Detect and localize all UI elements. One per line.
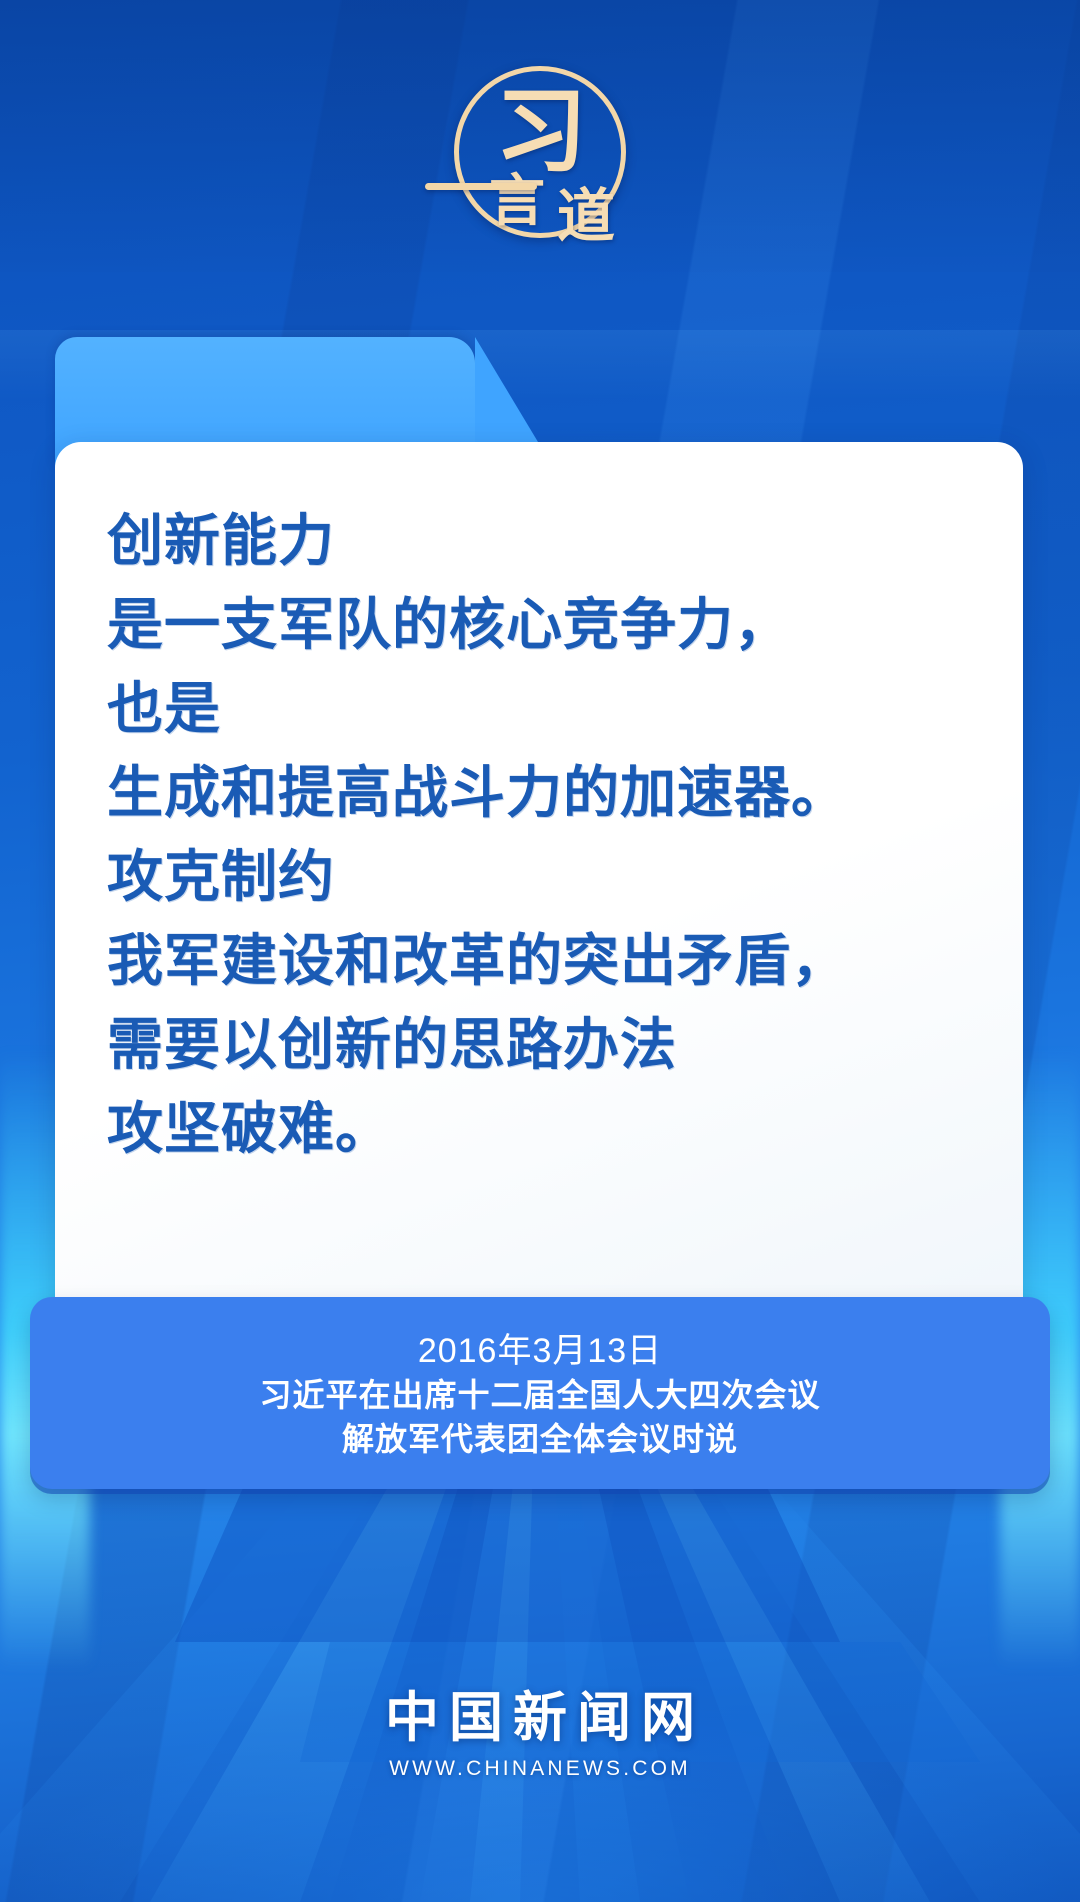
- attribution-line-2: 解放军代表团全体会议时说: [342, 1418, 738, 1460]
- xi-yan-dao-logo: 习 言 道: [454, 66, 626, 238]
- logo-container: 习 言 道: [0, 52, 1080, 252]
- quote-card: 创新能力 是一支军队的核心竞争力， 也是 生成和提高战斗力的加速器。 攻克制约 …: [55, 442, 1023, 1342]
- quote-line: 也是: [107, 668, 1023, 752]
- attribution-line-1: 习近平在出席十二届全国人大四次会议: [259, 1374, 820, 1416]
- quote-line: 攻坚破难。: [107, 1088, 1023, 1172]
- footer-brand: 中国新闻网 WWW.CHINANEWS.COM: [0, 1688, 1080, 1781]
- logo-char-dao-icon: 道: [557, 187, 615, 245]
- logo-char-xi-icon: 习: [495, 85, 587, 177]
- quote-line: 需要以创新的思路办法: [107, 1004, 1023, 1088]
- logo-horizontal-bar-icon: [425, 183, 537, 190]
- logo-char-yan-icon: 言: [489, 173, 545, 229]
- quote-line: 生成和提高战斗力的加速器。: [107, 752, 1023, 836]
- quote-line: 我军建设和改革的突出矛盾，: [107, 920, 1023, 1004]
- quote-line: 是一支军队的核心竞争力，: [107, 584, 1023, 668]
- attribution-date: 2016年3月13日: [418, 1330, 662, 1373]
- quote-line: 创新能力: [107, 500, 1023, 584]
- poster-root: 习 言 道 创新能力 是一支军队的核心竞争力， 也是 生成和提高战斗力的加速器。…: [0, 0, 1080, 1902]
- brand-url: WWW.CHINANEWS.COM: [389, 1757, 691, 1781]
- attribution-box: 2016年3月13日 习近平在出席十二届全国人大四次会议 解放军代表团全体会议时…: [30, 1297, 1050, 1489]
- quote-line: 攻克制约: [107, 836, 1023, 920]
- brand-name-cn: 中国新闻网: [375, 1688, 705, 1747]
